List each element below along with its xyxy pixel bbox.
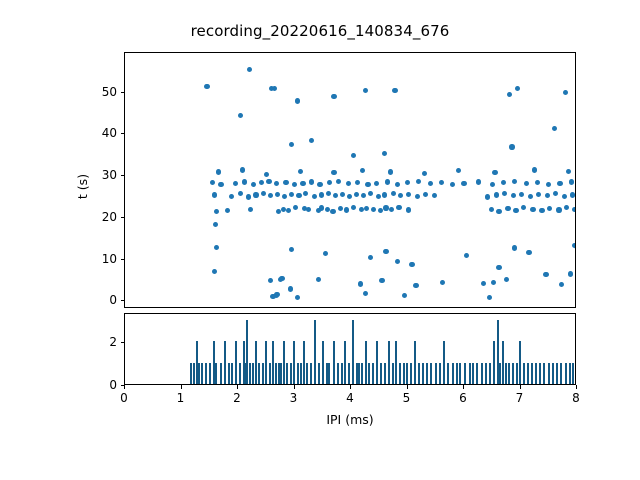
scatter-point [391,191,396,196]
scatter-point [266,179,271,184]
histogram-bar [252,363,254,384]
scatter-point [553,191,558,196]
scatter-point [288,286,293,291]
histogram-bar [512,363,514,384]
histogram-bar [472,363,474,384]
scatter-point [487,295,492,300]
scatter-point [360,168,365,173]
histogram-bar [380,363,382,384]
histogram-bar [213,341,215,384]
histogram-bar [326,363,328,384]
figure-title: recording_20220616_140834_676 [0,22,640,40]
histogram-bar [456,363,458,384]
scatter-point [382,192,387,197]
scatter-point [481,281,486,286]
histogram-bar [306,363,308,384]
scatter-point [351,205,356,210]
scatter-point [496,209,501,214]
scatter-point [461,181,466,186]
scatter-point [395,259,400,264]
scatter-point [289,247,294,252]
scatter-point [216,169,221,174]
scatter-y-tick [121,300,125,301]
scatter-plot-area [125,53,575,307]
scatter-point [519,192,524,197]
histogram-bar [368,363,370,384]
histogram-bar [548,363,550,384]
scatter-point [528,194,533,199]
scatter-point [355,180,360,185]
scatter-point [326,191,331,196]
scatter-point [242,179,247,184]
scatter-point [450,182,455,187]
scatter-point [274,181,279,186]
scatter-point [204,84,209,89]
scatter-point [306,207,311,212]
scatter-point [212,192,217,197]
histogram-bar [543,363,545,384]
scatter-y-tick-label: 0 [76,294,117,306]
scatter-point [496,265,501,270]
scatter-point [464,253,469,258]
scatter-point [319,192,324,197]
scatter-point [368,255,373,260]
histogram-bar [527,363,529,384]
histogram-x-tick-label: 3 [290,392,298,404]
scatter-point [214,209,219,214]
histogram-y-tick-label: 2 [76,336,117,348]
scatter-point [563,90,568,95]
scatter-point [513,208,518,213]
scatter-point [511,193,516,198]
histogram-bar [392,363,394,384]
scatter-point [432,193,437,198]
histogram-x-tick [294,385,295,389]
scatter-point [439,180,444,185]
scatter-point [376,194,381,199]
scatter-point [521,205,526,210]
scatter-point [238,113,243,118]
histogram-x-tick-label: 7 [516,392,524,404]
scatter-point [512,245,517,250]
histogram-bar [272,341,274,384]
scatter-point [552,126,557,131]
histogram-bar [361,363,363,384]
scatter-point [568,271,573,276]
scatter-point [268,193,273,198]
scatter-point [363,88,368,93]
scatter-point [396,205,401,210]
histogram-bar [239,363,241,384]
scatter-point [526,250,531,255]
histogram-bar [255,341,257,384]
scatter-point [363,291,368,296]
scatter-point [296,193,301,198]
scatter-point [545,193,550,198]
scatter-point [327,180,332,185]
scatter-point [440,280,445,285]
scatter-point [295,295,300,300]
scatter-point [240,167,245,172]
scatter-point [309,138,314,143]
histogram-bar [293,341,295,384]
scatter-point [543,272,548,277]
scatter-point [476,179,481,184]
scatter-y-tick-label: 50 [76,86,117,98]
histogram-bar [410,363,412,384]
scatter-point [272,86,277,91]
scatter-point [530,207,535,212]
histogram-x-tick [181,385,182,389]
histogram-bar [224,341,226,384]
histogram-bar [443,341,445,384]
scatter-point [515,86,520,91]
scatter-point [535,180,540,185]
scatter-point [251,182,256,187]
histogram-bar [426,363,428,384]
histogram-bar [388,341,390,384]
histogram-bar [572,363,574,384]
histogram-bar [275,363,277,384]
histogram-bar [228,363,230,384]
scatter-point [344,207,349,212]
scatter-point [383,249,388,254]
histogram-bar [476,363,478,384]
scatter-point [501,180,506,185]
histogram-bar [485,363,487,384]
scatter-point [556,207,561,212]
scatter-point [268,278,273,283]
histogram-bar [286,363,288,384]
histogram-bar [376,341,378,384]
histogram-bar [499,363,501,384]
scatter-point [378,208,383,213]
scatter-point [364,206,369,211]
scatter-point [456,168,461,173]
histogram-bar [523,363,525,384]
scatter-point [374,181,379,186]
histogram-bar [269,363,271,384]
scatter-point [547,206,552,211]
scatter-point [422,171,427,176]
scatter-point [494,192,499,197]
histogram-bar [300,363,302,384]
scatter-point [490,182,495,187]
scatter-y-tick [121,217,125,218]
histogram-bar [328,363,330,384]
histogram-bar [297,363,299,384]
histogram-axes [124,313,576,385]
histogram-bar [531,363,533,384]
scatter-point [338,206,343,211]
scatter-point [409,262,414,267]
histogram-bar [337,363,339,384]
histogram-plot-area [125,314,575,384]
scatter-point [361,193,366,198]
scatter-point [395,182,400,187]
scatter-point [383,205,388,210]
scatter-point [331,94,336,99]
histogram-bar [459,363,461,384]
histogram-bar [464,363,466,384]
scatter-y-tick-label: 40 [76,127,117,139]
histogram-bar [352,320,354,384]
scatter-point [559,282,564,287]
histogram-bar [403,363,405,384]
histogram-bar [452,363,454,384]
histogram-bar [435,363,437,384]
histogram-x-tick [350,385,351,389]
histogram-bar [399,363,401,384]
scatter-point [309,179,314,184]
histogram-y-tick [121,342,125,343]
histogram-bar [372,363,374,384]
scatter-point [351,153,356,158]
scatter-point [319,205,324,210]
histogram-bar [481,363,483,384]
matplotlib-figure: recording_20220616_140834_676 0102030405… [0,0,640,480]
scatter-point [275,192,280,197]
scatter-point [214,245,219,250]
scatter-point [368,191,373,196]
scatter-point [331,170,336,175]
scatter-point [566,169,571,174]
scatter-point [416,179,421,184]
scatter-point [539,208,544,213]
histogram-x-tick-label: 5 [403,392,411,404]
scatter-point [312,194,317,199]
scatter-point [574,244,576,249]
histogram-x-tick-label: 4 [346,392,354,404]
scatter-point [279,276,284,281]
scatter-point [325,207,330,212]
histogram-bar [469,363,471,384]
scatter-point [218,182,223,187]
histogram-bar [508,363,510,384]
histogram-bar [246,320,248,384]
scatter-point [261,191,266,196]
histogram-bar [318,363,320,384]
histogram-x-tick [576,385,577,389]
histogram-x-tick [237,385,238,389]
scatter-point [289,192,294,197]
scatter-point [317,182,322,187]
scatter-point [225,208,230,213]
histogram-bar [505,363,507,384]
scatter-point [289,142,294,147]
scatter-point [413,283,418,288]
scatter-point [283,180,288,185]
histogram-bar [418,363,420,384]
histogram-bar [535,363,537,384]
histogram-bar [395,341,397,384]
scatter-point [406,192,411,197]
histogram-bar [265,341,267,384]
scatter-y-tick-label: 10 [76,253,117,265]
scatter-point [295,98,300,103]
histogram-x-tick [407,385,408,389]
histogram-bar [384,363,386,384]
histogram-bar [198,363,200,384]
scatter-point [398,193,403,198]
scatter-point [282,194,287,199]
scatter-point [546,182,551,187]
histogram-bar [422,363,424,384]
histogram-bar [290,363,292,384]
scatter-point [489,207,494,212]
histogram-bar [249,363,251,384]
histogram-x-axis-label: IPI (ms) [124,413,576,427]
scatter-point [492,170,497,175]
scatter-point [428,181,433,186]
scatter-point [336,179,341,184]
scatter-point [507,92,512,97]
scatter-point [210,180,215,185]
scatter-point [281,207,286,212]
scatter-point [532,167,537,172]
scatter-y-tick [121,175,125,176]
scatter-point [330,209,335,214]
histogram-bar [565,363,567,384]
scatter-point [365,182,370,187]
scatter-point [382,151,387,156]
histogram-bar [439,363,441,384]
histogram-x-tick [520,385,521,389]
histogram-bar [262,363,264,384]
scatter-point [347,194,352,199]
scatter-point [247,67,252,72]
scatter-y-tick [121,133,125,134]
scatter-point [340,192,345,197]
scatter-point [293,205,298,210]
scatter-point [264,172,269,177]
histogram-x-tick-label: 6 [459,392,467,404]
histogram-x-tick [463,385,464,389]
histogram-x-tick-label: 1 [177,392,185,404]
histogram-bar [348,363,350,384]
histogram-bar [519,341,521,384]
scatter-point [564,205,569,210]
scatter-point [557,181,562,186]
histogram-bar [365,341,367,384]
scatter-y-tick [121,259,125,260]
scatter-point [512,179,517,184]
histogram-bar [258,363,260,384]
scatter-point [569,179,574,184]
scatter-y-tick [121,92,125,93]
scatter-point [491,280,496,285]
scatter-point [379,278,384,283]
scatter-point [213,222,218,227]
histogram-bar [190,363,192,384]
scatter-point [358,281,363,286]
scatter-point [504,277,509,282]
scatter-point [229,194,234,199]
histogram-bar [209,363,211,384]
scatter-point [212,269,217,274]
scatter-point [509,144,514,149]
scatter-point [485,194,490,199]
histogram-bar [358,363,360,384]
histogram-bar [414,341,416,384]
histogram-bar [552,363,554,384]
scatter-point [298,169,303,174]
histogram-bar [215,363,217,384]
histogram-bar [283,341,285,384]
scatter-point [248,207,253,212]
scatter-point [402,293,407,298]
scatter-point [406,207,411,212]
scatter-point [274,292,279,297]
histogram-bar [235,341,237,384]
histogram-bar [196,341,198,384]
scatter-point [286,208,291,213]
scatter-point [246,194,251,199]
histogram-bar [341,363,343,384]
histogram-x-tick-label: 0 [120,392,128,404]
histogram-bar [303,341,305,384]
histogram-bar [205,363,207,384]
scatter-point [233,181,238,186]
scatter-point [292,182,297,187]
scatter-y-axis-label: t (s) [76,174,89,199]
histogram-bar [539,363,541,384]
scatter-point [389,207,394,212]
histogram-bar [201,363,203,384]
histogram-bar [231,363,233,384]
histogram-y-tick-label: 0 [76,379,117,391]
histogram-x-tick-label: 8 [572,392,580,404]
scatter-point [423,192,428,197]
scatter-point [323,251,328,256]
scatter-point [354,192,359,197]
histogram-bar [278,363,280,384]
scatter-y-tick-label: 20 [76,211,117,223]
histogram-x-tick-label: 2 [233,392,241,404]
histogram-bar [569,363,571,384]
histogram-bar [406,363,408,384]
histogram-bar [280,363,282,384]
scatter-point [346,181,351,186]
scatter-point [392,88,397,93]
scatter-point [253,192,258,197]
scatter-point [371,207,376,212]
scatter-point [259,180,264,185]
histogram-bar [489,363,491,384]
scatter-point [524,181,529,186]
scatter-point [405,180,410,185]
histogram-bar [560,363,562,384]
histogram-bar [333,341,335,384]
scatter-point [572,207,576,212]
scatter-point [333,193,338,198]
scatter-point [385,179,390,184]
scatter-point [300,181,305,186]
scatter-point [502,191,507,196]
histogram-bar [344,341,346,384]
scatter-point [238,191,243,196]
histogram-bar [516,363,518,384]
scatter-point [415,194,420,199]
histogram-bar [322,341,324,384]
scatter-point [562,194,567,199]
histogram-bar [430,363,432,384]
scatter-point [316,277,321,282]
scatter-axes [124,52,576,308]
scatter-point [388,169,393,174]
histogram-bar [556,363,558,384]
histogram-bar [193,363,195,384]
